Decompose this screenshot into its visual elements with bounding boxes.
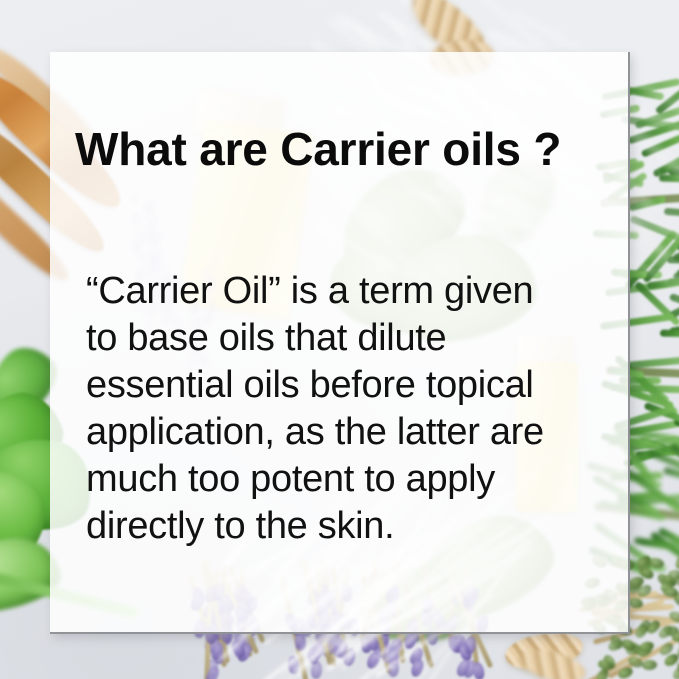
body-line: to base oils that dilute [86, 315, 606, 362]
lavender-bud [471, 661, 485, 679]
body-line: directly to the skin. [86, 503, 606, 550]
body-line: much too potent to apply [86, 456, 606, 503]
thyme-leaf [668, 569, 679, 579]
thyme-leaf [673, 553, 679, 571]
body-line: “Carrier Oil” is a term given [86, 268, 606, 315]
body-paragraph: “Carrier Oil” is a term given to base oi… [86, 268, 606, 550]
page-title: What are Carrier oils ? [75, 122, 561, 176]
rosemary-needle [662, 466, 679, 484]
body-line: essential oils before topical [86, 362, 606, 409]
rosemary-needle [659, 330, 679, 338]
thyme-leaf [642, 660, 658, 671]
rosemary-needle [624, 356, 679, 369]
body-line: application, as the latter are [86, 409, 606, 456]
thyme-leaf [649, 556, 666, 569]
carrier-oils-infographic: What are Carrier oils ? “Carrier Oil” is… [0, 0, 679, 679]
